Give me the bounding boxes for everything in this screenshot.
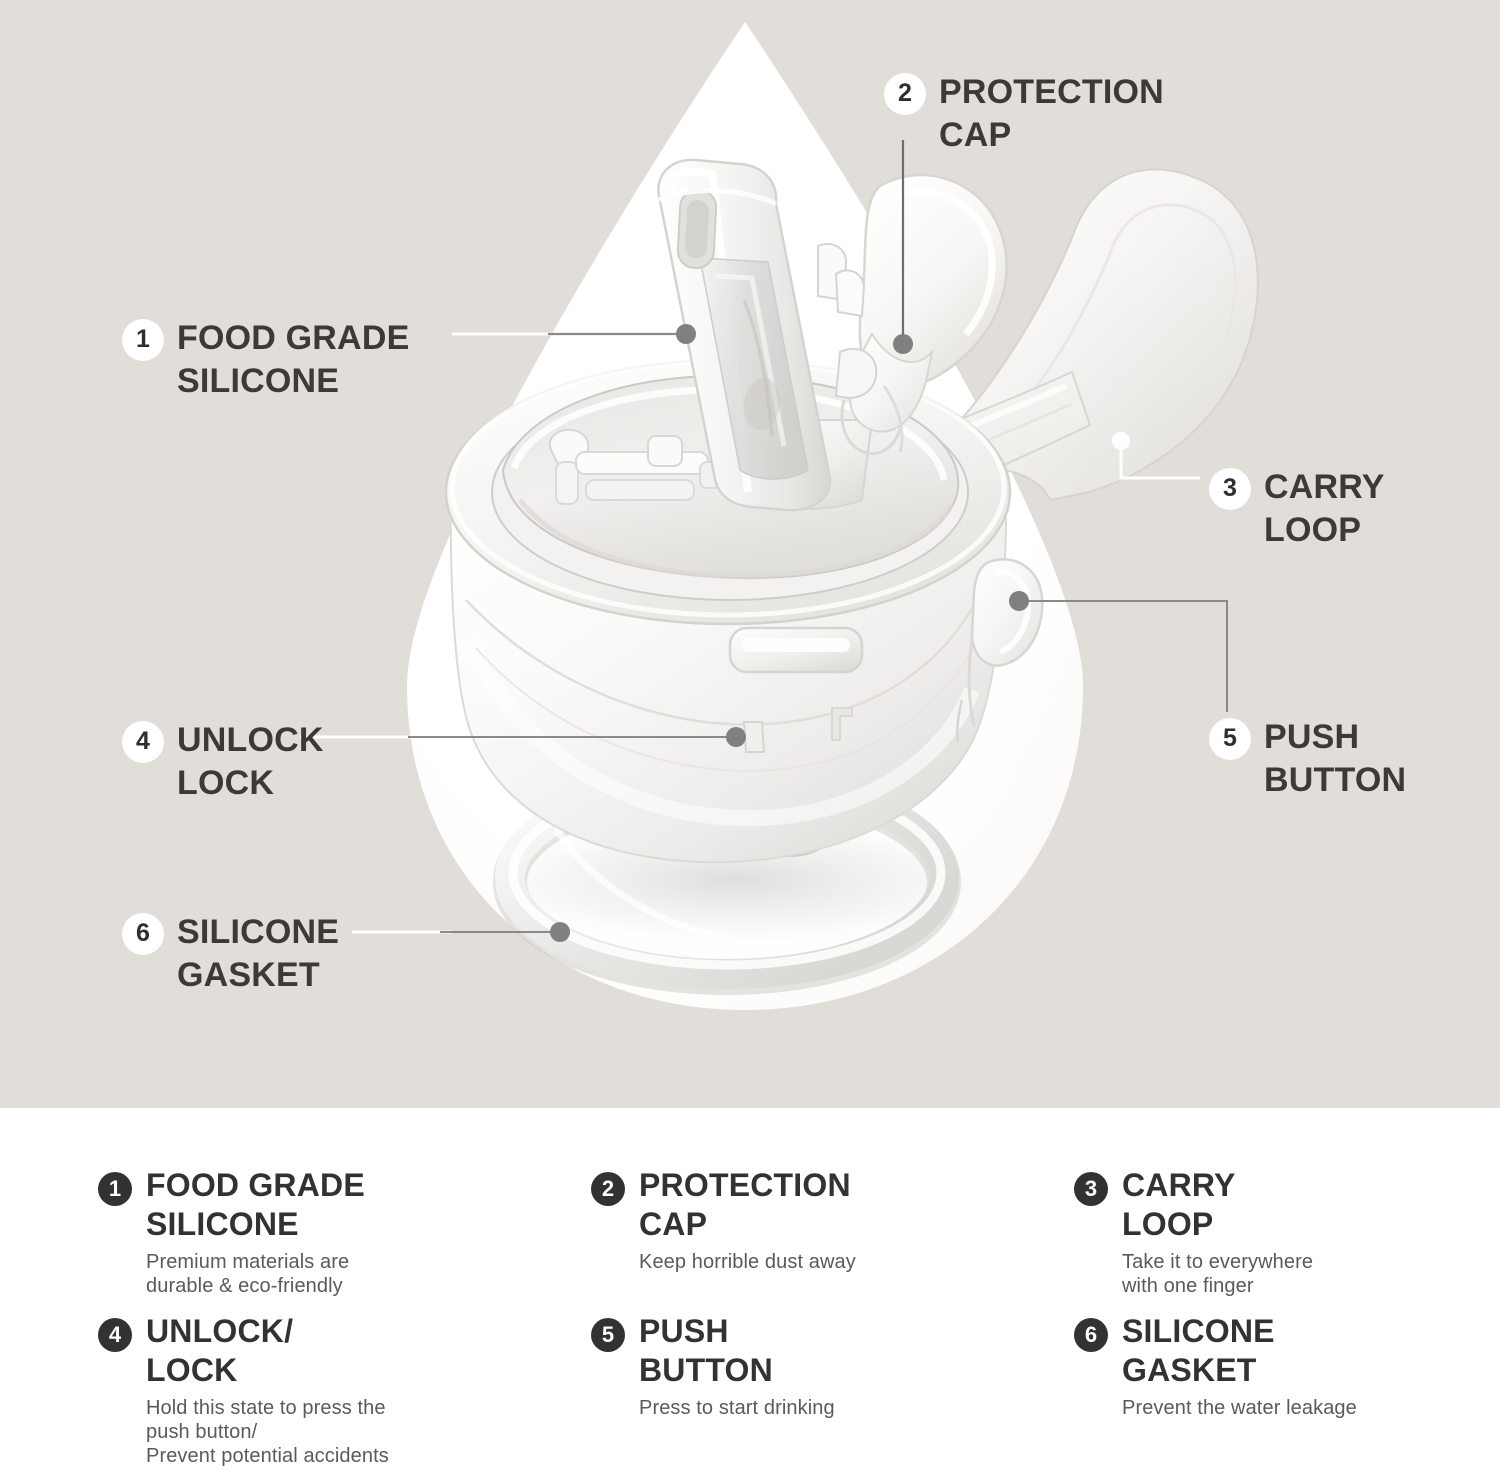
legend-badge-2: 2 (591, 1172, 625, 1206)
callout-title-6: SILICONE GASKET (177, 910, 339, 997)
leader-dot-4 (726, 727, 746, 747)
legend-description-2: Keep horrible dust away (639, 1250, 856, 1274)
legend-badge-3: 3 (1074, 1172, 1108, 1206)
legend-item-2: 2 PROTECTION CAP Keep horrible dust away (553, 1166, 1036, 1312)
legend-description-6: Prevent the water leakage (1122, 1396, 1357, 1420)
legend-title-4: UNLOCK/ LOCK (146, 1312, 389, 1390)
hero-panel: 1 FOOD GRADE SILICONE 2 PROTECTION CAP 3… (0, 0, 1500, 1108)
legend-item-4: 4 UNLOCK/ LOCK Hold this state to press … (60, 1312, 553, 1468)
callout-badge-5: 5 (1209, 718, 1251, 760)
callout-badge-2: 2 (884, 73, 926, 115)
leader-line-6 (352, 922, 570, 942)
leader-dot-5 (1009, 591, 1029, 611)
callout-label-3: 3 CARRY LOOP (1209, 465, 1385, 552)
callout-badge-1: 1 (122, 319, 164, 361)
callout-label-5: 5 PUSH BUTTON (1209, 715, 1406, 802)
legend-item-1: 1 FOOD GRADE SILICONE Premium materials … (60, 1166, 553, 1312)
legend-badge-5: 5 (591, 1318, 625, 1352)
leader-dot-3 (1112, 432, 1130, 450)
legend-item-6: 6 SILICONE GASKET Prevent the water leak… (1036, 1312, 1440, 1468)
callout-badge-4: 4 (122, 721, 164, 763)
legend-grid: 1 FOOD GRADE SILICONE Premium materials … (60, 1166, 1440, 1468)
callout-title-2: PROTECTION CAP (939, 70, 1164, 157)
leader-line-3 (1112, 432, 1200, 478)
leader-line-1 (452, 324, 696, 344)
callout-label-4: 4 UNLOCK LOCK (122, 718, 324, 805)
legend-title-2: PROTECTION CAP (639, 1166, 856, 1244)
legend-badge-1: 1 (98, 1172, 132, 1206)
legend-title-1: FOOD GRADE SILICONE (146, 1166, 365, 1244)
legend-description-5: Press to start drinking (639, 1396, 835, 1420)
legend-title-5: PUSH BUTTON (639, 1312, 835, 1390)
legend-item-3: 3 CARRY LOOP Take it to everywhere with … (1036, 1166, 1440, 1312)
legend-title-3: CARRY LOOP (1122, 1166, 1313, 1244)
callout-badge-3: 3 (1209, 468, 1251, 510)
legend-description-4: Hold this state to press the push button… (146, 1396, 389, 1468)
callout-badge-6: 6 (122, 913, 164, 955)
callout-label-6: 6 SILICONE GASKET (122, 910, 339, 997)
legend-badge-6: 6 (1074, 1318, 1108, 1352)
leader-dot-1 (676, 324, 696, 344)
legend-title-6: SILICONE GASKET (1122, 1312, 1357, 1390)
legend-description-1: Premium materials are durable & eco-frie… (146, 1250, 365, 1298)
leader-dot-2 (893, 334, 913, 354)
leader-line-2 (893, 140, 913, 354)
callout-title-4: UNLOCK LOCK (177, 718, 324, 805)
callout-label-1: 1 FOOD GRADE SILICONE (122, 316, 409, 403)
legend-badge-4: 4 (98, 1318, 132, 1352)
leader-line-4 (300, 727, 746, 747)
leader-line-5 (1009, 591, 1227, 712)
callout-label-2: 2 PROTECTION CAP (884, 70, 1164, 157)
legend-panel: 1 FOOD GRADE SILICONE Premium materials … (0, 1108, 1500, 1471)
leader-dot-6 (550, 922, 570, 942)
legend-item-5: 5 PUSH BUTTON Press to start drinking (553, 1312, 1036, 1468)
callout-title-3: CARRY LOOP (1264, 465, 1385, 552)
legend-description-3: Take it to everywhere with one finger (1122, 1250, 1313, 1298)
callout-title-1: FOOD GRADE SILICONE (177, 316, 409, 403)
callout-title-5: PUSH BUTTON (1264, 715, 1406, 802)
